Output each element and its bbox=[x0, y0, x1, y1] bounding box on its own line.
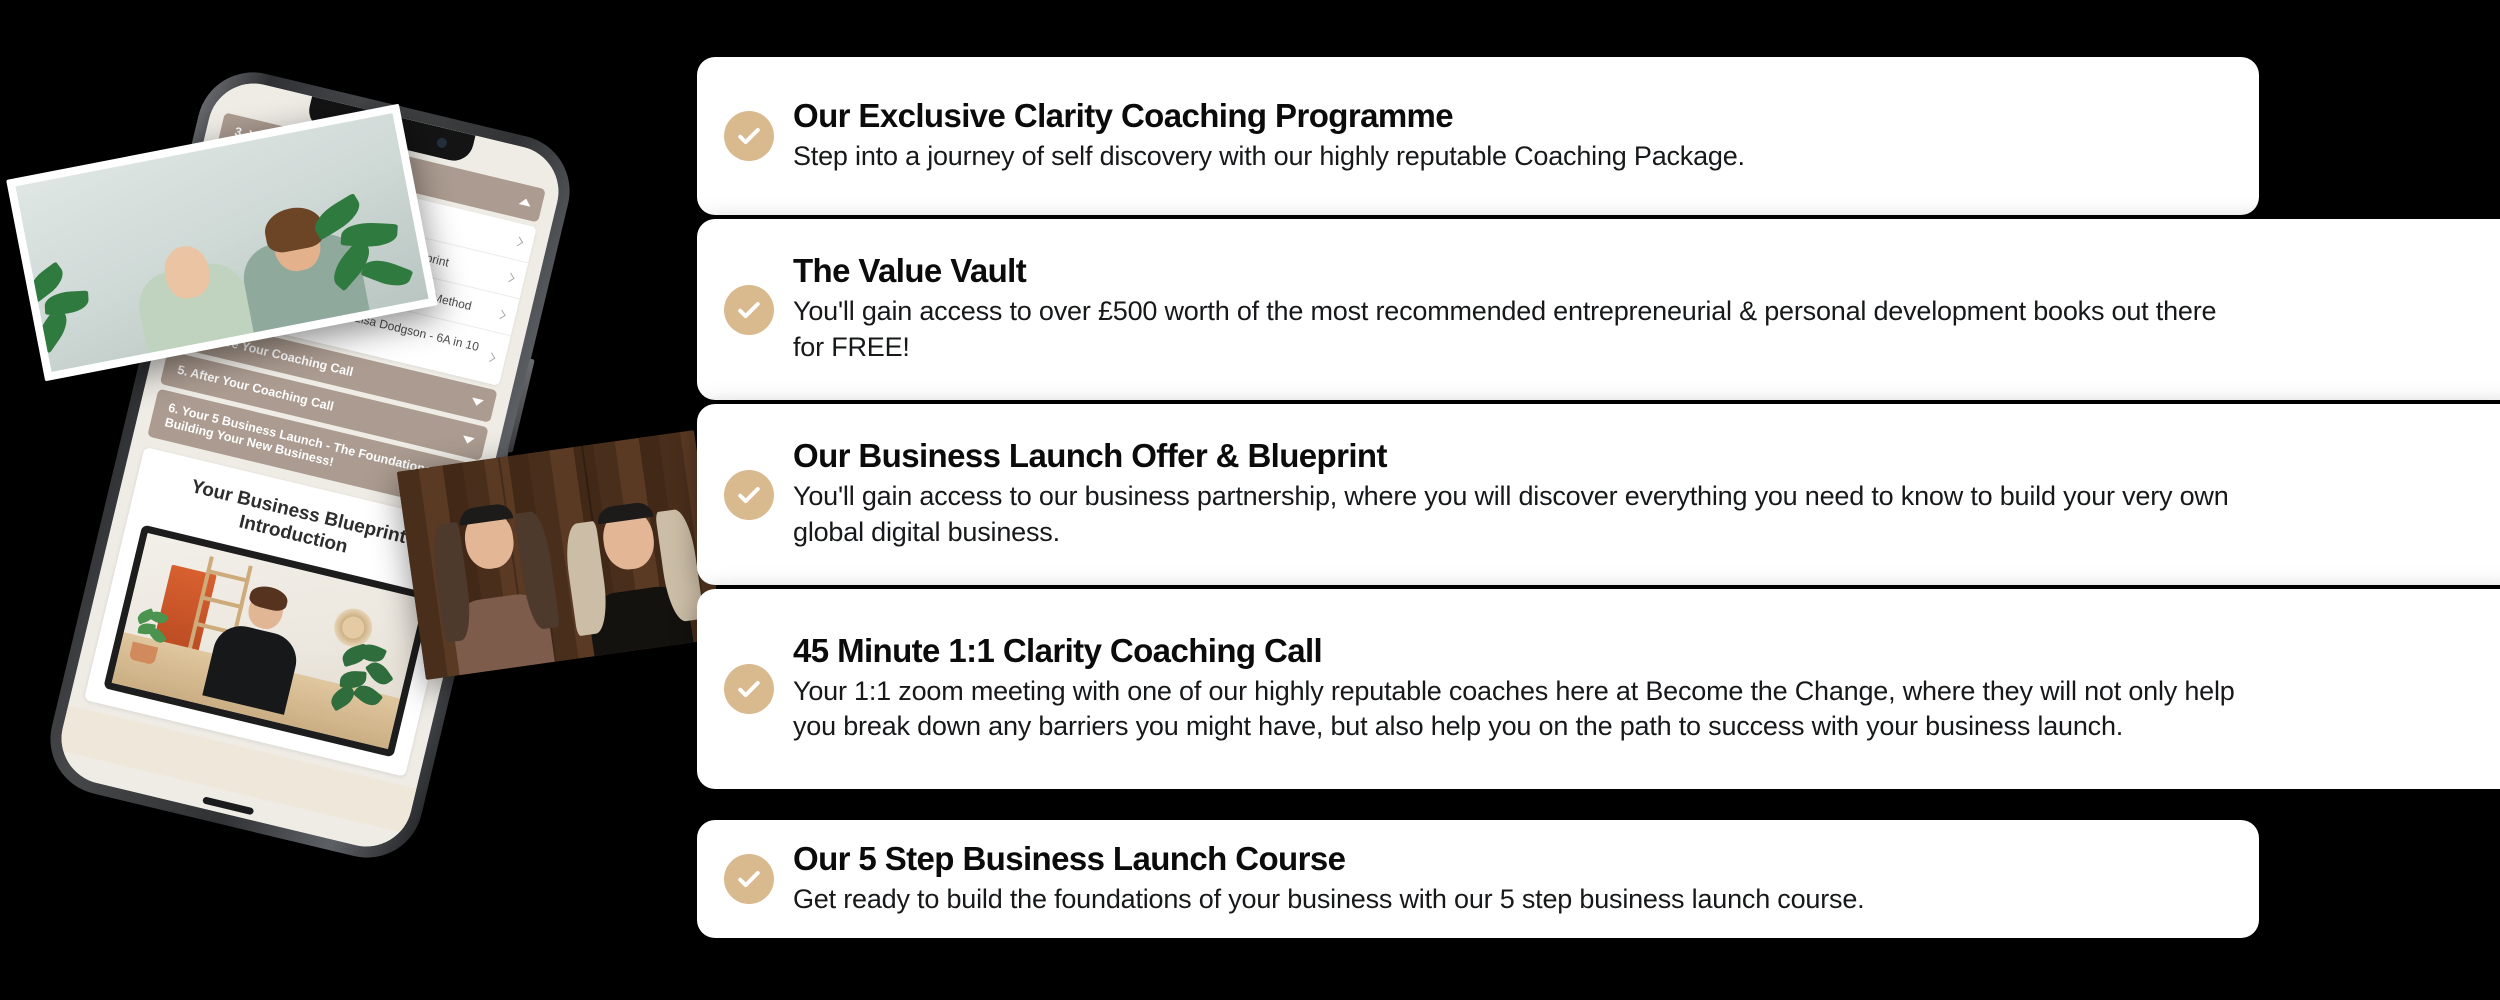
feature-card-list: Our Exclusive Clarity Coaching Programme… bbox=[0, 0, 2500, 1000]
feature-description: Your 1:1 zoom meeting with one of our hi… bbox=[793, 674, 2253, 746]
check-circle-icon bbox=[724, 854, 774, 904]
feature-card[interactable]: Our Business Launch Offer & Blueprint Yo… bbox=[697, 404, 2500, 585]
feature-title: 45 Minute 1:1 Clarity Coaching Call bbox=[793, 633, 2500, 670]
feature-title: Our Business Launch Offer & Blueprint bbox=[793, 438, 2500, 475]
feature-card[interactable]: 45 Minute 1:1 Clarity Coaching Call Your… bbox=[697, 589, 2500, 789]
feature-title: The Value Vault bbox=[793, 253, 2500, 290]
check-circle-icon bbox=[724, 285, 774, 335]
feature-description: Step into a journey of self discovery wi… bbox=[793, 139, 2233, 175]
promo-graphic: 3. Your Business Blueprint Introducing o… bbox=[0, 0, 2500, 1000]
feature-title: Our Exclusive Clarity Coaching Programme bbox=[793, 98, 2233, 135]
feature-card[interactable]: The Value Vault You'll gain access to ov… bbox=[697, 219, 2500, 400]
check-circle-icon bbox=[724, 111, 774, 161]
feature-description: You'll gain access to over £500 worth of… bbox=[793, 294, 2253, 366]
feature-description: You'll gain access to our business partn… bbox=[793, 479, 2253, 551]
feature-card[interactable]: Our Exclusive Clarity Coaching Programme… bbox=[697, 57, 2259, 215]
feature-card[interactable]: Our 5 Step Business Launch Course Get re… bbox=[697, 820, 2259, 938]
check-circle-icon bbox=[724, 664, 774, 714]
check-circle-icon bbox=[724, 470, 774, 520]
feature-title: Our 5 Step Business Launch Course bbox=[793, 841, 2233, 878]
feature-description: Get ready to build the foundations of yo… bbox=[793, 882, 2233, 918]
